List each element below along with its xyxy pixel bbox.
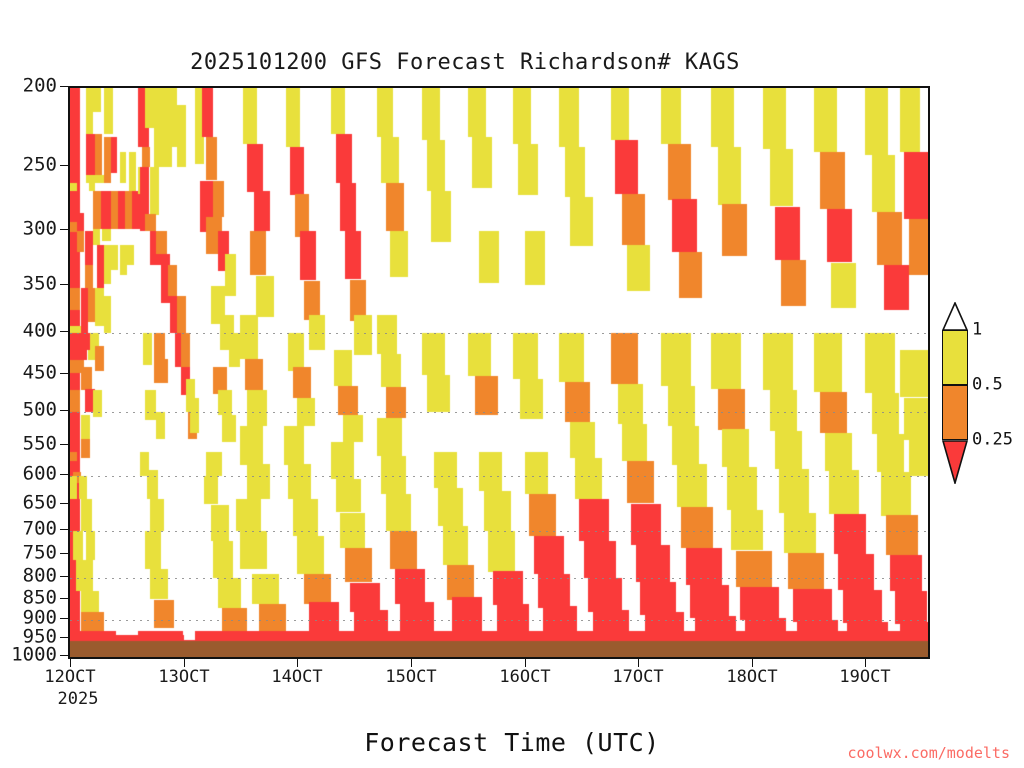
x-axis-tick [752,659,753,667]
y-axis-tick [60,553,68,554]
x-axis-label: 18OCT [726,669,777,686]
x-axis-label: 19OCT [839,669,890,686]
y-axis-tick [60,165,68,166]
y-axis-tick [60,576,68,577]
x-axis-label: 14OCT [271,669,322,686]
y-axis-tick [60,229,68,230]
colorbar-tick-label: 0.5 [972,377,1003,394]
watermark: coolwx.com/modelts [847,744,1010,762]
y-axis-label: 300 [23,220,57,239]
y-axis-tick [60,655,68,656]
colorbar-stack [942,330,968,440]
y-axis-label: 550 [23,435,57,454]
x-axis-label: 17OCT [612,669,663,686]
x-axis-tick [184,659,185,667]
y-axis-label: 200 [23,77,57,96]
x-axis-year-label: 2025 [58,691,99,708]
y-axis-label: 700 [23,520,57,539]
colorbar-band [942,385,968,440]
y-axis-label: 1000 [11,646,57,665]
y-axis-tick [60,444,68,445]
chart-root: 2025101200 GFS Forecast Richardson# KAGS… [0,0,1024,768]
y-axis-tick [60,410,68,411]
y-axis-label: 350 [23,275,57,294]
x-axis-label: 15OCT [385,669,436,686]
x-axis-tick [525,659,526,667]
x-axis-label: 16OCT [499,669,550,686]
x-axis-tick [297,659,298,667]
x-axis-tick [411,659,412,667]
y-axis-tick [60,598,68,599]
y-axis-label: 500 [23,401,57,420]
x-axis: 12OCT202513OCT14OCT15OCT16OCT17OCT18OCT1… [68,659,930,719]
y-axis-tick [60,503,68,504]
x-axis-tick [865,659,866,667]
x-axis-label: 12OCT [44,669,95,686]
y-axis-label: 600 [23,465,57,484]
x-axis-label: 13OCT [158,669,209,686]
y-axis-tick [60,618,68,619]
colorbar-tick-label: 0.25 [972,432,1013,449]
y-axis-label: 400 [23,322,57,341]
colorbar-band [942,330,968,385]
y-axis: 2002503003504004505005506006507007508008… [0,86,68,659]
x-axis-tick [638,659,639,667]
y-axis-label: 800 [23,567,57,586]
heatmap-canvas [70,88,928,657]
y-axis-label: 250 [23,156,57,175]
y-axis-tick [60,637,68,638]
y-axis-tick [60,474,68,475]
y-axis-label: 850 [23,589,57,608]
colorbar-cap-below [942,440,968,484]
colorbar-cap-above [942,302,968,330]
y-axis-tick [60,331,68,332]
page-title: 2025101200 GFS Forecast Richardson# KAGS [0,50,930,75]
plot-area [68,86,930,659]
y-axis-tick [60,529,68,530]
x-axis-tick [70,659,71,667]
colorbar-legend: 10.50.25 [938,302,1024,482]
y-axis-label: 750 [23,544,57,563]
y-axis-tick [60,284,68,285]
y-axis-tick [60,86,68,87]
y-axis-label: 650 [23,494,57,513]
gridline [70,657,928,658]
y-axis-tick [60,373,68,374]
y-axis-label: 450 [23,364,57,383]
colorbar-tick-label: 1 [972,322,982,339]
